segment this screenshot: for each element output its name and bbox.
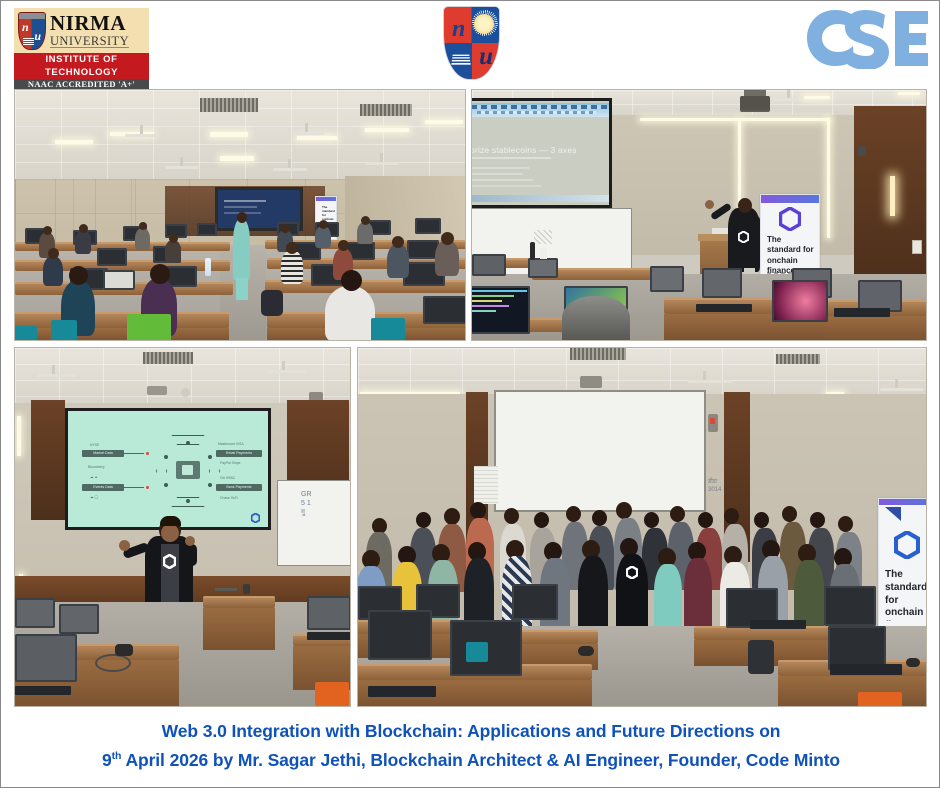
nu-shield-icon: n u xyxy=(444,7,499,79)
hexagon-logo-icon xyxy=(738,231,749,243)
ceiling-fan xyxy=(37,374,77,377)
student xyxy=(135,228,150,250)
nirma-wordmark-line1: NIRMA xyxy=(50,13,129,34)
ceiling-fan xyxy=(880,388,924,391)
slide-label: Chase SoFi xyxy=(220,496,238,500)
projector-screen: gorize stablecoins — 3 axes xyxy=(471,98,612,208)
caption-day-suffix: th xyxy=(112,750,122,762)
presentation-slide: NYSE Bloomberg Market Data Events Data ☁… xyxy=(68,411,268,527)
caption-line-1: Web 3.0 Integration with Blockchain: App… xyxy=(1,719,940,744)
nu-shield-letter-u: u xyxy=(479,44,493,69)
photo-speaker-presenting: gorize stablecoins — 3 axes xyxy=(471,89,927,341)
nirma-institute-band: INSTITUTE OF TECHNOLOGY xyxy=(14,53,149,79)
slide-title: gorize stablecoins — 3 axes xyxy=(471,145,615,155)
hexagon-logo-icon xyxy=(626,566,638,579)
monitor-with-wallpaper xyxy=(772,280,828,322)
slide-node: Retail Payments xyxy=(216,450,262,457)
nirma-wordmark-line2: UNIVERSITY xyxy=(50,35,129,49)
student xyxy=(387,244,409,278)
student xyxy=(281,250,303,284)
student xyxy=(357,222,373,244)
student xyxy=(43,256,63,286)
photo-speaker-architecture-slide: NYSE Bloomberg Market Data Events Data ☁… xyxy=(14,347,351,707)
ceiling-fan xyxy=(290,132,324,135)
slide-node: Events Data xyxy=(82,484,124,491)
slide-label: Mastercard VISA xyxy=(218,442,244,446)
person xyxy=(654,564,682,633)
standing-attendee xyxy=(233,220,250,280)
hexagon-logo-icon xyxy=(163,554,176,569)
hexagon-logo-icon xyxy=(251,513,260,523)
student xyxy=(315,226,331,248)
slide-label: Citi HSBC xyxy=(220,476,235,480)
chair xyxy=(127,314,171,341)
ceiling-fan xyxy=(267,370,307,373)
monitor-with-code xyxy=(471,286,530,334)
slide-node: Market Data xyxy=(82,450,124,457)
ceiling-fan xyxy=(165,166,199,169)
nirma-crest-icon: n u xyxy=(18,12,46,50)
caption-line-2-rest: April 2026 by Mr. Sagar Jethi, Blockchai… xyxy=(121,750,840,770)
hexagon-logo-icon xyxy=(779,207,801,231)
chair xyxy=(858,692,902,707)
hexagon-logo-icon xyxy=(894,531,920,559)
person xyxy=(578,556,608,633)
seated-attendee xyxy=(562,296,630,341)
slide-label: PayPal Stripe xyxy=(220,461,241,465)
person xyxy=(684,558,712,633)
banner-text: The standard for onchain finance xyxy=(885,569,927,621)
slide-label: NYSE xyxy=(90,443,99,447)
student xyxy=(435,240,459,276)
chair xyxy=(315,682,349,706)
ceiling-fan xyxy=(365,162,399,165)
event-banner: The standard for onchain finance xyxy=(878,498,927,638)
laptop-screen xyxy=(103,270,135,290)
nirma-logo-top: n u NIRMA UNIVERSITY xyxy=(14,8,149,53)
caption-line-2: 9th April 2026 by Mr. Sagar Jethi, Block… xyxy=(1,744,940,773)
slide-node: Bank Payments xyxy=(216,484,262,491)
student xyxy=(325,286,375,341)
student xyxy=(75,230,91,254)
photo-collage: The standard for onchain finance xyxy=(1,87,940,715)
nu-shield-letter-n: n xyxy=(452,17,465,41)
ceiling-fan xyxy=(273,168,307,171)
nirma-university-logo: n u NIRMA UNIVERSITY INSTITUTE OF TECHNO… xyxy=(14,8,149,77)
caption: Web 3.0 Integration with Blockchain: App… xyxy=(1,719,940,787)
cse-wordmark-icon xyxy=(795,7,931,69)
slide-label: Bloomberg xyxy=(88,465,104,469)
ceiling-fan xyxy=(125,134,159,137)
event-collage-page: n u NIRMA UNIVERSITY INSTITUTE OF TECHNO… xyxy=(0,0,940,788)
header-logos: n u NIRMA UNIVERSITY INSTITUTE OF TECHNO… xyxy=(1,1,940,87)
photo-group: डीडः3014 The standard for onchain financ… xyxy=(357,347,927,707)
photo-classroom-rear-view: The standard for onchain finance xyxy=(14,89,466,341)
ceiling-fan xyxy=(688,380,732,383)
whiteboard xyxy=(494,390,706,512)
caption-day: 9 xyxy=(102,750,112,770)
student xyxy=(165,240,181,262)
